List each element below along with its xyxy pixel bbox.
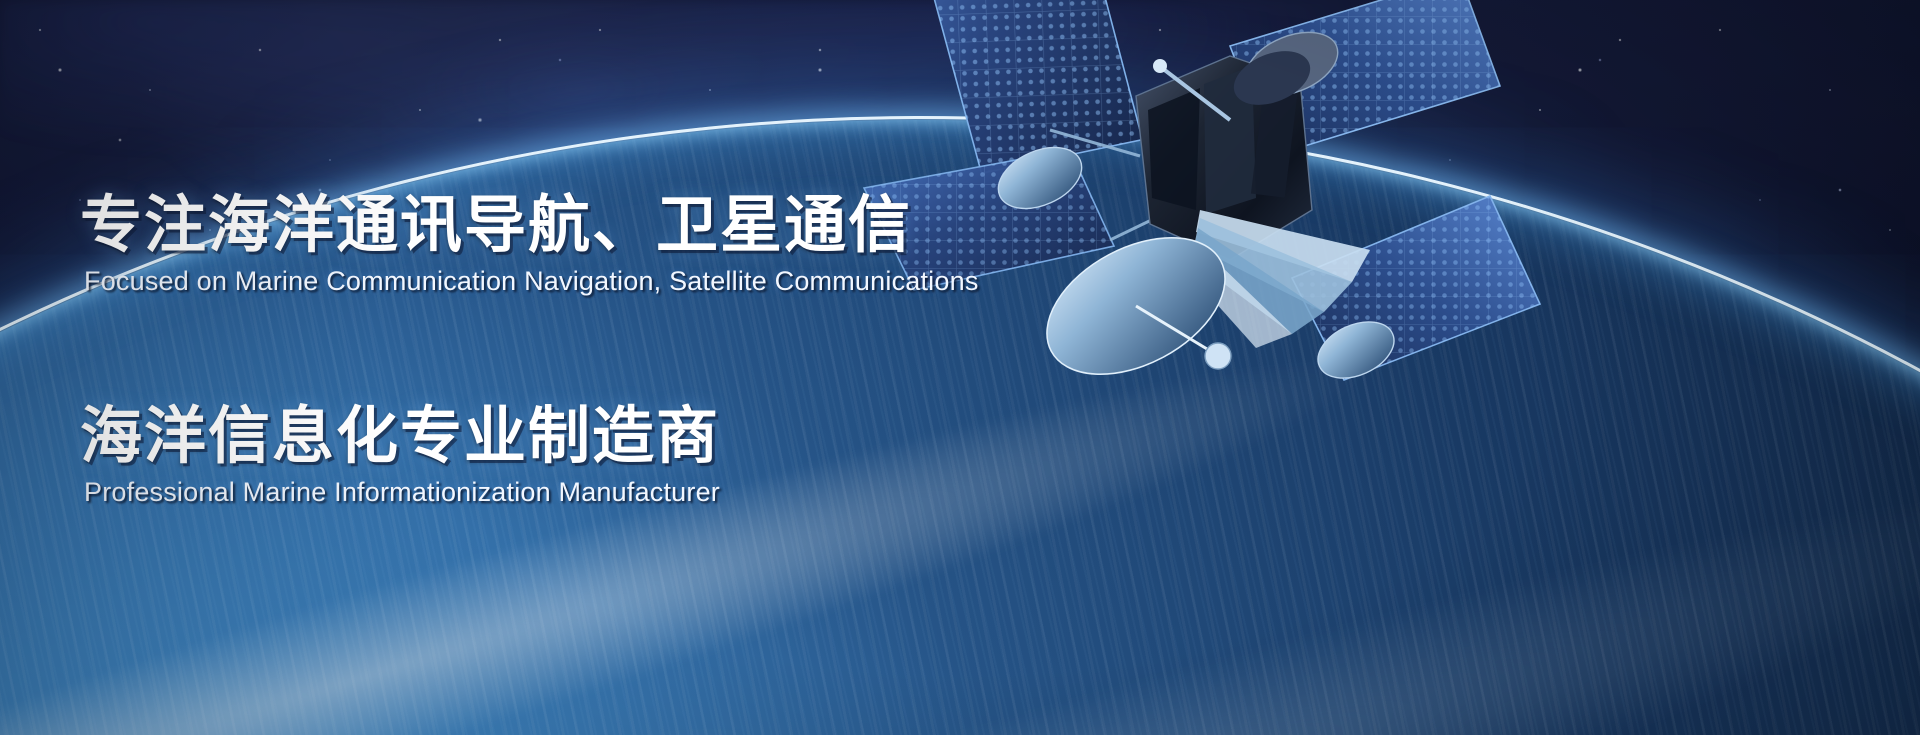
satellite-graphic bbox=[900, 0, 1600, 500]
satellite-icon bbox=[900, 0, 1600, 500]
solar-panel-upper-left bbox=[907, 0, 1144, 176]
hero-banner: 专注海洋通讯导航、卫星通信 Focused on Marine Communic… bbox=[0, 0, 1920, 735]
